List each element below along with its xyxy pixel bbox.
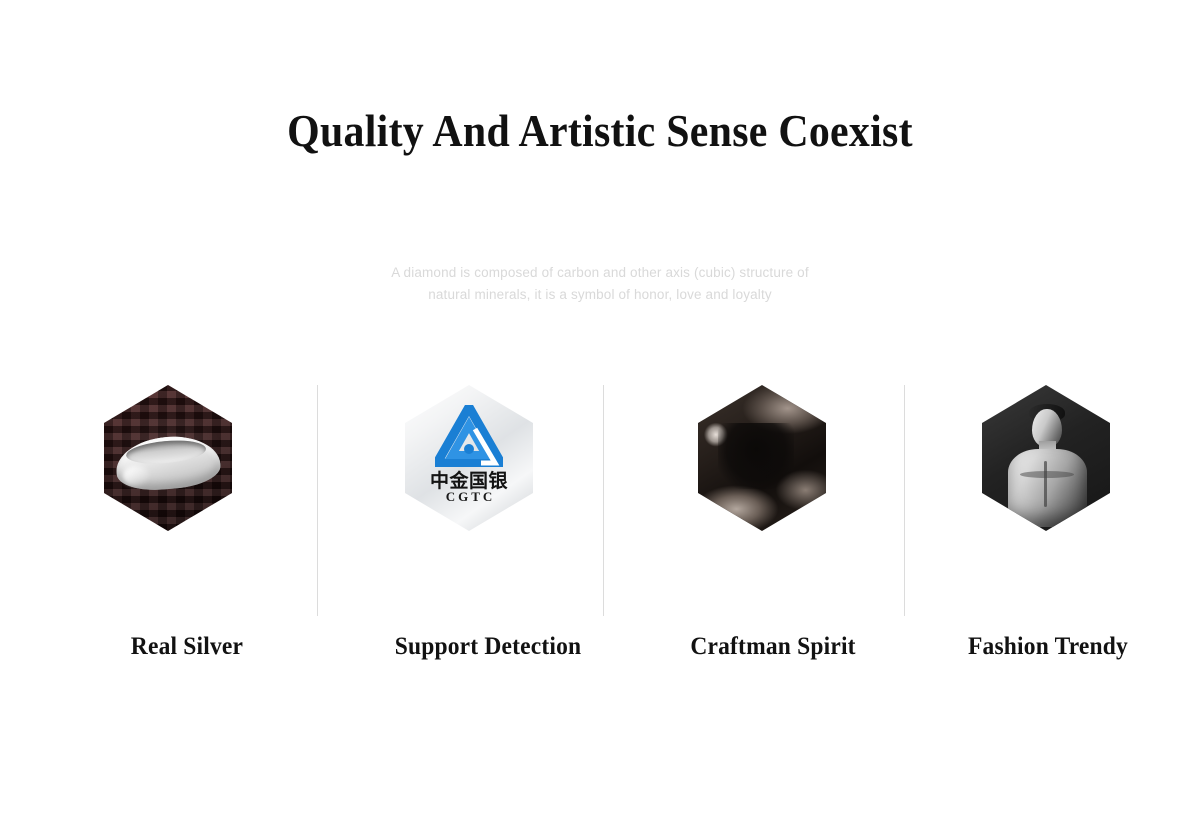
model-torso-shape	[1008, 449, 1087, 527]
feature-caption-support-detection: Support Detection	[347, 632, 629, 662]
feature-row: Real Silver 中金国银 CGTC Support Detection …	[0, 0, 1200, 819]
feature-caption-craftman-spirit: Craftman Spirit	[632, 632, 914, 662]
cgtc-logo-wordmark: 中金国银 CGTC	[405, 471, 533, 504]
model-figure-shape	[982, 385, 1110, 531]
feature-item-fashion-trendy: Fashion Trendy	[898, 0, 1198, 819]
feature-item-craftman-spirit: Craftman Spirit	[620, 0, 920, 819]
cgtc-triangle-spiral-icon	[435, 405, 503, 467]
cgtc-latin-name: CGTC	[405, 490, 533, 504]
craftsman-hexagon-image	[698, 385, 826, 531]
column-divider-2	[603, 385, 604, 616]
cgtc-chinese-name: 中金国银	[405, 471, 533, 491]
feature-caption-real-silver: Real Silver	[46, 632, 328, 662]
column-divider-3	[904, 385, 905, 616]
fashion-model-hexagon-image	[982, 385, 1110, 531]
feature-item-real-silver: Real Silver	[18, 0, 318, 819]
silver-ingot-hexagon-image	[104, 385, 232, 531]
feature-item-support-detection: 中金国银 CGTC Support Detection	[320, 0, 620, 819]
silver-ingot-shape	[114, 433, 222, 494]
feature-caption-fashion-trendy: Fashion Trendy	[907, 632, 1189, 662]
column-divider-1	[317, 385, 318, 616]
cgtc-logo-hexagon-image: 中金国银 CGTC	[405, 385, 533, 531]
